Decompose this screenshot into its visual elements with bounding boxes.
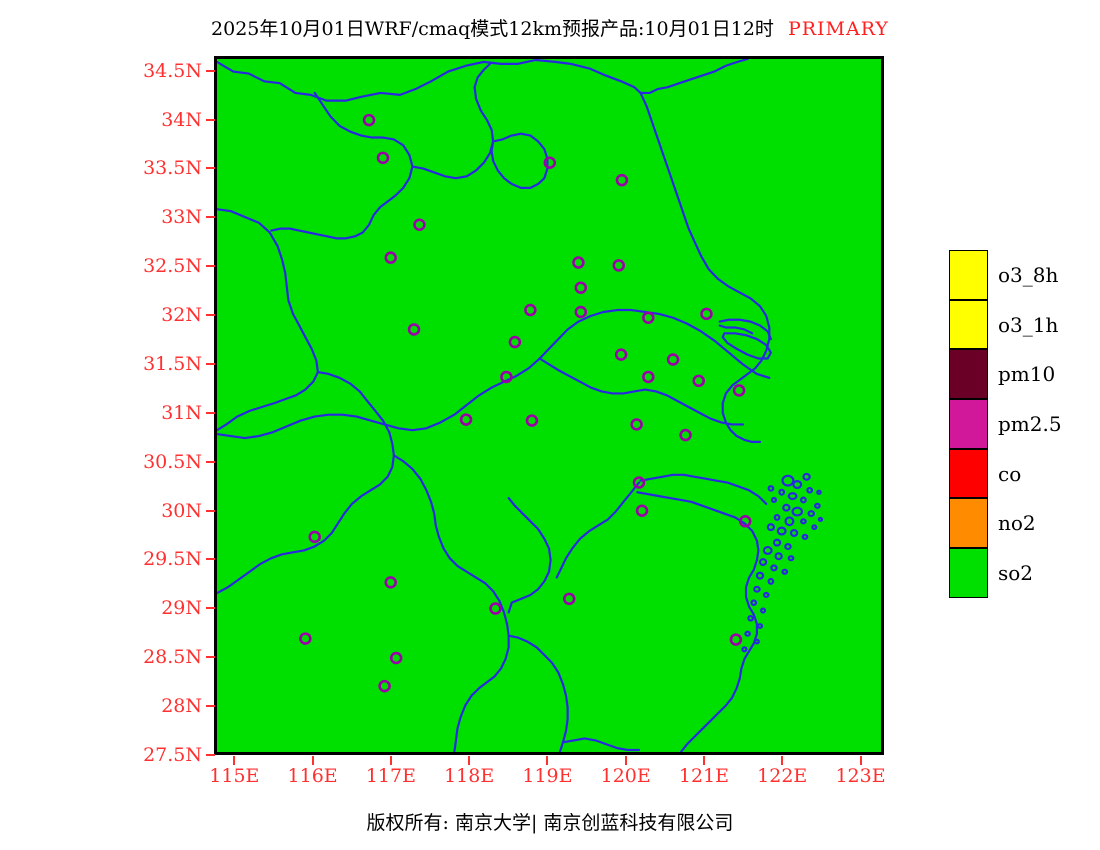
- legend-color-swatch: [949, 548, 988, 598]
- station-marker[interactable]: [510, 337, 520, 347]
- legend-item-label: o3_1h: [998, 313, 1058, 337]
- station-marker[interactable]: [702, 309, 712, 319]
- map-plot-area[interactable]: [214, 56, 884, 755]
- offshore-island: [801, 498, 806, 503]
- x-axis-tick-mark: [546, 756, 548, 765]
- y-axis-tick-mark: [206, 558, 215, 560]
- x-axis-tick-label: 121E: [679, 765, 729, 787]
- legend-item-label: co: [998, 462, 1021, 486]
- station-marker[interactable]: [386, 577, 396, 587]
- offshore-island: [815, 504, 820, 508]
- offshore-island: [817, 491, 820, 494]
- boundary-path: [641, 93, 770, 442]
- title-primary-badge: PRIMARY: [788, 18, 889, 40]
- x-axis-tick-mark: [468, 756, 470, 765]
- offshore-island: [771, 566, 776, 571]
- y-axis-tick-mark: [206, 656, 215, 658]
- x-axis-tick-label: 119E: [522, 765, 572, 787]
- offshore-island: [803, 535, 808, 539]
- offshore-island: [793, 481, 801, 488]
- legend-color-swatch: [949, 300, 988, 350]
- offshore-island: [812, 525, 816, 529]
- offshore-island: [757, 573, 763, 579]
- legend-color-swatch: [949, 498, 988, 548]
- y-axis-tick-label: 29N: [60, 597, 202, 619]
- y-axis-tick-mark: [206, 265, 215, 267]
- offshore-island: [764, 547, 772, 554]
- station-marker[interactable]: [616, 350, 626, 360]
- x-axis-tick-mark: [625, 756, 627, 765]
- station-marker[interactable]: [734, 385, 744, 395]
- y-axis-tick-label: 32.5N: [60, 255, 202, 277]
- x-axis-tick-mark: [860, 756, 862, 765]
- station-marker[interactable]: [643, 372, 653, 382]
- offshore-island: [776, 553, 782, 559]
- offshore-island: [748, 616, 753, 620]
- offshore-island: [751, 601, 756, 605]
- y-axis-tick-label: 32N: [60, 304, 202, 326]
- legend-item-label: pm2.5: [998, 412, 1062, 436]
- boundary-path: [641, 475, 767, 504]
- boundary-path: [412, 64, 493, 178]
- y-axis-tick-label: 27.5N: [60, 744, 202, 766]
- boundary-path: [217, 372, 394, 593]
- offshore-island: [807, 488, 812, 492]
- x-axis-tick-mark: [703, 756, 705, 765]
- y-axis-tick-label: 29.5N: [60, 548, 202, 570]
- y-axis-tick-label: 30N: [60, 500, 202, 522]
- y-axis-tick-mark: [206, 510, 215, 512]
- legend-color-swatch: [949, 349, 988, 399]
- station-marker[interactable]: [668, 355, 678, 365]
- y-axis-tick-mark: [206, 216, 215, 218]
- boundary-path: [720, 325, 753, 333]
- offshore-island: [783, 505, 789, 511]
- boundary-path: [217, 209, 318, 430]
- offshore-island: [745, 632, 749, 636]
- offshore-island: [804, 474, 810, 480]
- station-marker[interactable]: [380, 681, 390, 691]
- station-marker[interactable]: [637, 506, 647, 516]
- station-marker[interactable]: [461, 415, 471, 425]
- y-axis-tick-mark: [206, 412, 215, 414]
- y-axis-tick-mark: [206, 461, 215, 463]
- offshore-island: [782, 570, 787, 574]
- y-axis-tick-mark: [206, 314, 215, 316]
- station-marker[interactable]: [617, 175, 627, 185]
- station-marker[interactable]: [525, 305, 535, 315]
- offshore-island: [754, 587, 759, 592]
- station-marker[interactable]: [386, 253, 396, 263]
- y-axis-tick-label: 31N: [60, 402, 202, 424]
- boundary-path: [540, 359, 743, 425]
- x-axis-tick-label: 116E: [288, 765, 338, 787]
- boundary-path: [271, 93, 412, 238]
- y-axis-tick-mark: [206, 363, 215, 365]
- legend-item-label: so2: [998, 561, 1033, 585]
- y-axis-tick-label: 34.5N: [60, 60, 202, 82]
- boundary-path: [637, 492, 758, 752]
- station-marker[interactable]: [378, 153, 388, 163]
- x-axis-tick-mark: [312, 756, 314, 765]
- station-marker[interactable]: [694, 376, 704, 386]
- y-axis-tick-label: 28N: [60, 695, 202, 717]
- boundary-path: [557, 483, 639, 578]
- boundary-path: [217, 310, 769, 438]
- offshore-island: [809, 511, 814, 516]
- offshore-island: [764, 593, 769, 597]
- station-marker[interactable]: [576, 283, 586, 293]
- station-marker[interactable]: [573, 258, 583, 268]
- y-axis-tick-label: 31.5N: [60, 353, 202, 375]
- y-axis-tick-mark: [206, 167, 215, 169]
- boundary-path: [217, 59, 748, 101]
- station-marker[interactable]: [681, 430, 691, 440]
- offshore-island: [755, 640, 759, 644]
- offshore-island: [786, 517, 794, 525]
- map-canvas: [217, 59, 881, 752]
- offshore-island: [760, 559, 766, 565]
- station-marker[interactable]: [415, 220, 425, 230]
- offshore-island: [769, 486, 774, 490]
- offshore-island: [793, 508, 802, 516]
- boundary-path: [509, 498, 551, 612]
- station-marker[interactable]: [391, 653, 401, 663]
- legend-color-swatch: [949, 399, 988, 449]
- offshore-island: [801, 519, 806, 523]
- offshore-island: [791, 530, 797, 536]
- station-marker[interactable]: [409, 325, 419, 335]
- legend-item-label: o3_8h: [998, 263, 1058, 287]
- station-marker[interactable]: [527, 416, 537, 426]
- y-axis-tick-mark: [206, 705, 215, 707]
- x-axis-tick-label: 123E: [835, 765, 885, 787]
- y-axis-tick-mark: [206, 754, 215, 756]
- station-marker[interactable]: [300, 634, 310, 644]
- boundary-path: [394, 455, 509, 752]
- station-marker[interactable]: [614, 260, 624, 270]
- offshore-island: [819, 518, 822, 521]
- offshore-island: [761, 609, 765, 613]
- x-axis-tick-label: 115E: [209, 765, 259, 787]
- y-axis-tick-mark: [206, 119, 215, 121]
- boundary-path: [492, 134, 548, 188]
- offshore-island: [779, 490, 784, 495]
- boundary-lines: [217, 59, 822, 752]
- y-axis-tick-mark: [206, 70, 215, 72]
- x-axis-tick-mark: [233, 756, 235, 765]
- x-axis-tick-label: 118E: [444, 765, 494, 787]
- boundary-path: [563, 738, 639, 750]
- station-marker[interactable]: [643, 313, 653, 323]
- station-marker[interactable]: [632, 419, 642, 429]
- legend-color-swatch: [949, 449, 988, 499]
- legend-item-label: no2: [998, 511, 1036, 535]
- offshore-island: [774, 540, 780, 546]
- x-axis-tick-label: 117E: [366, 765, 416, 787]
- x-axis-tick-label: 122E: [757, 765, 807, 787]
- offshore-island: [742, 647, 746, 651]
- offshore-island: [769, 579, 774, 584]
- y-axis-tick-mark: [206, 607, 215, 609]
- x-axis-tick-mark: [390, 756, 392, 765]
- chart-title: 2025年10月01日WRF/cmaq模式12km预报产品:10月01日12时P…: [0, 14, 1100, 41]
- offshore-island: [768, 524, 774, 530]
- y-axis-tick-label: 28.5N: [60, 646, 202, 668]
- station-marker[interactable]: [364, 115, 374, 125]
- offshore-island: [789, 556, 794, 560]
- y-axis-tick-label: 33.5N: [60, 157, 202, 179]
- x-axis-tick-label: 120E: [601, 765, 651, 787]
- offshore-island: [758, 624, 762, 628]
- offshore-island: [775, 515, 780, 520]
- station-marker[interactable]: [310, 532, 320, 542]
- station-marker[interactable]: [731, 635, 741, 645]
- station-marker[interactable]: [576, 307, 586, 317]
- legend-item-label: pm10: [998, 362, 1055, 386]
- offshore-island: [785, 544, 790, 549]
- y-axis-tick-label: 33N: [60, 206, 202, 228]
- legend-color-swatch: [949, 250, 988, 300]
- y-axis-tick-label: 34N: [60, 109, 202, 131]
- offshore-island: [789, 493, 797, 499]
- offshore-island: [778, 528, 786, 535]
- station-marker[interactable]: [491, 604, 501, 614]
- copyright-footer: 版权所有: 南京大学| 南京创蓝科技有限公司: [0, 808, 1100, 835]
- boundary-path: [509, 636, 568, 752]
- x-axis-tick-mark: [781, 756, 783, 765]
- title-text: 2025年10月01日WRF/cmaq模式12km预报产品:10月01日12时: [211, 18, 774, 40]
- station-marker[interactable]: [564, 594, 574, 604]
- offshore-island: [782, 476, 793, 486]
- y-axis-tick-label: 30.5N: [60, 451, 202, 473]
- offshore-island: [772, 498, 776, 502]
